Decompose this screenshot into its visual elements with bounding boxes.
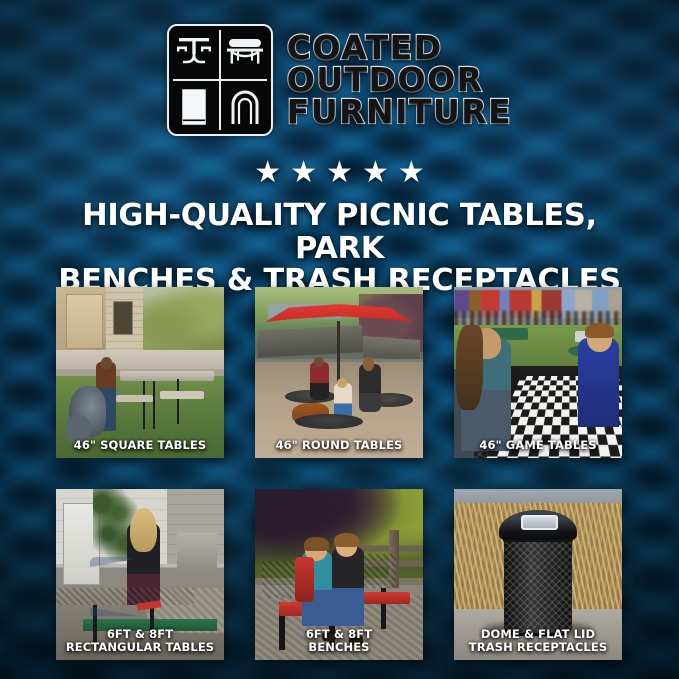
brand-name-line-3: FURNITURE [287, 96, 512, 128]
caption-line-1: 46" GAME TABLES [457, 439, 619, 452]
four-panel-product-grid-icon [167, 24, 273, 136]
caption-line-2: TRASH RECEPTACLES [457, 641, 619, 654]
caption-line-2: RECTANGULAR TABLES [59, 641, 221, 654]
product-card-game-tables[interactable]: 46" GAME TABLES [454, 287, 622, 458]
caption-line-2: BENCHES [258, 641, 420, 654]
page-title: HIGH-QUALITY PICNIC TABLES, PARK BENCHES… [34, 200, 645, 298]
product-card-trash-receptacles[interactable]: DOME & FLAT LID TRASH RECEPTACLES [454, 489, 622, 660]
product-caption: 6FT & 8FT RECTANGULAR TABLES [56, 628, 224, 654]
brand-logo: COATED OUTDOOR FURNITURE [0, 24, 679, 136]
caption-line-1: 46" SQUARE TABLES [59, 439, 221, 452]
brand-wordmark: COATED OUTDOOR FURNITURE [287, 32, 512, 127]
park-bench-icon [220, 26, 271, 80]
product-caption: 46" ROUND TABLES [255, 439, 423, 452]
product-photo [56, 287, 224, 458]
product-caption: 46" SQUARE TABLES [56, 439, 224, 452]
star-icon: ★ [362, 158, 389, 188]
headline-line-1: HIGH-QUALITY PICNIC TABLES, PARK [34, 200, 645, 265]
trash-receptacle-icon [169, 80, 220, 134]
caption-line-1: 46" ROUND TABLES [258, 439, 420, 452]
product-card-benches[interactable]: 6FT & 8FT BENCHES [255, 489, 423, 660]
star-icon: ★ [326, 158, 353, 188]
product-card-square-tables[interactable]: 46" SQUARE TABLES [56, 287, 224, 458]
product-photo [255, 287, 423, 458]
star-icon: ★ [398, 158, 425, 188]
product-caption: 6FT & 8FT BENCHES [255, 628, 423, 654]
product-card-rectangular-tables[interactable]: 6FT & 8FT RECTANGULAR TABLES [56, 489, 224, 660]
product-caption: 46" GAME TABLES [454, 439, 622, 452]
bike-rack-icon [220, 80, 271, 134]
star-icon: ★ [254, 158, 281, 188]
product-card-round-tables[interactable]: 46" ROUND TABLES [255, 287, 423, 458]
product-grid: 46" SQUARE TABLES 46" ROUND TABLES [56, 287, 622, 660]
product-photo [454, 287, 622, 458]
star-rating: ★ ★ ★ ★ ★ [0, 158, 679, 188]
star-icon: ★ [290, 158, 317, 188]
product-caption: DOME & FLAT LID TRASH RECEPTACLES [454, 628, 622, 654]
picnic-table-icon [169, 26, 220, 80]
